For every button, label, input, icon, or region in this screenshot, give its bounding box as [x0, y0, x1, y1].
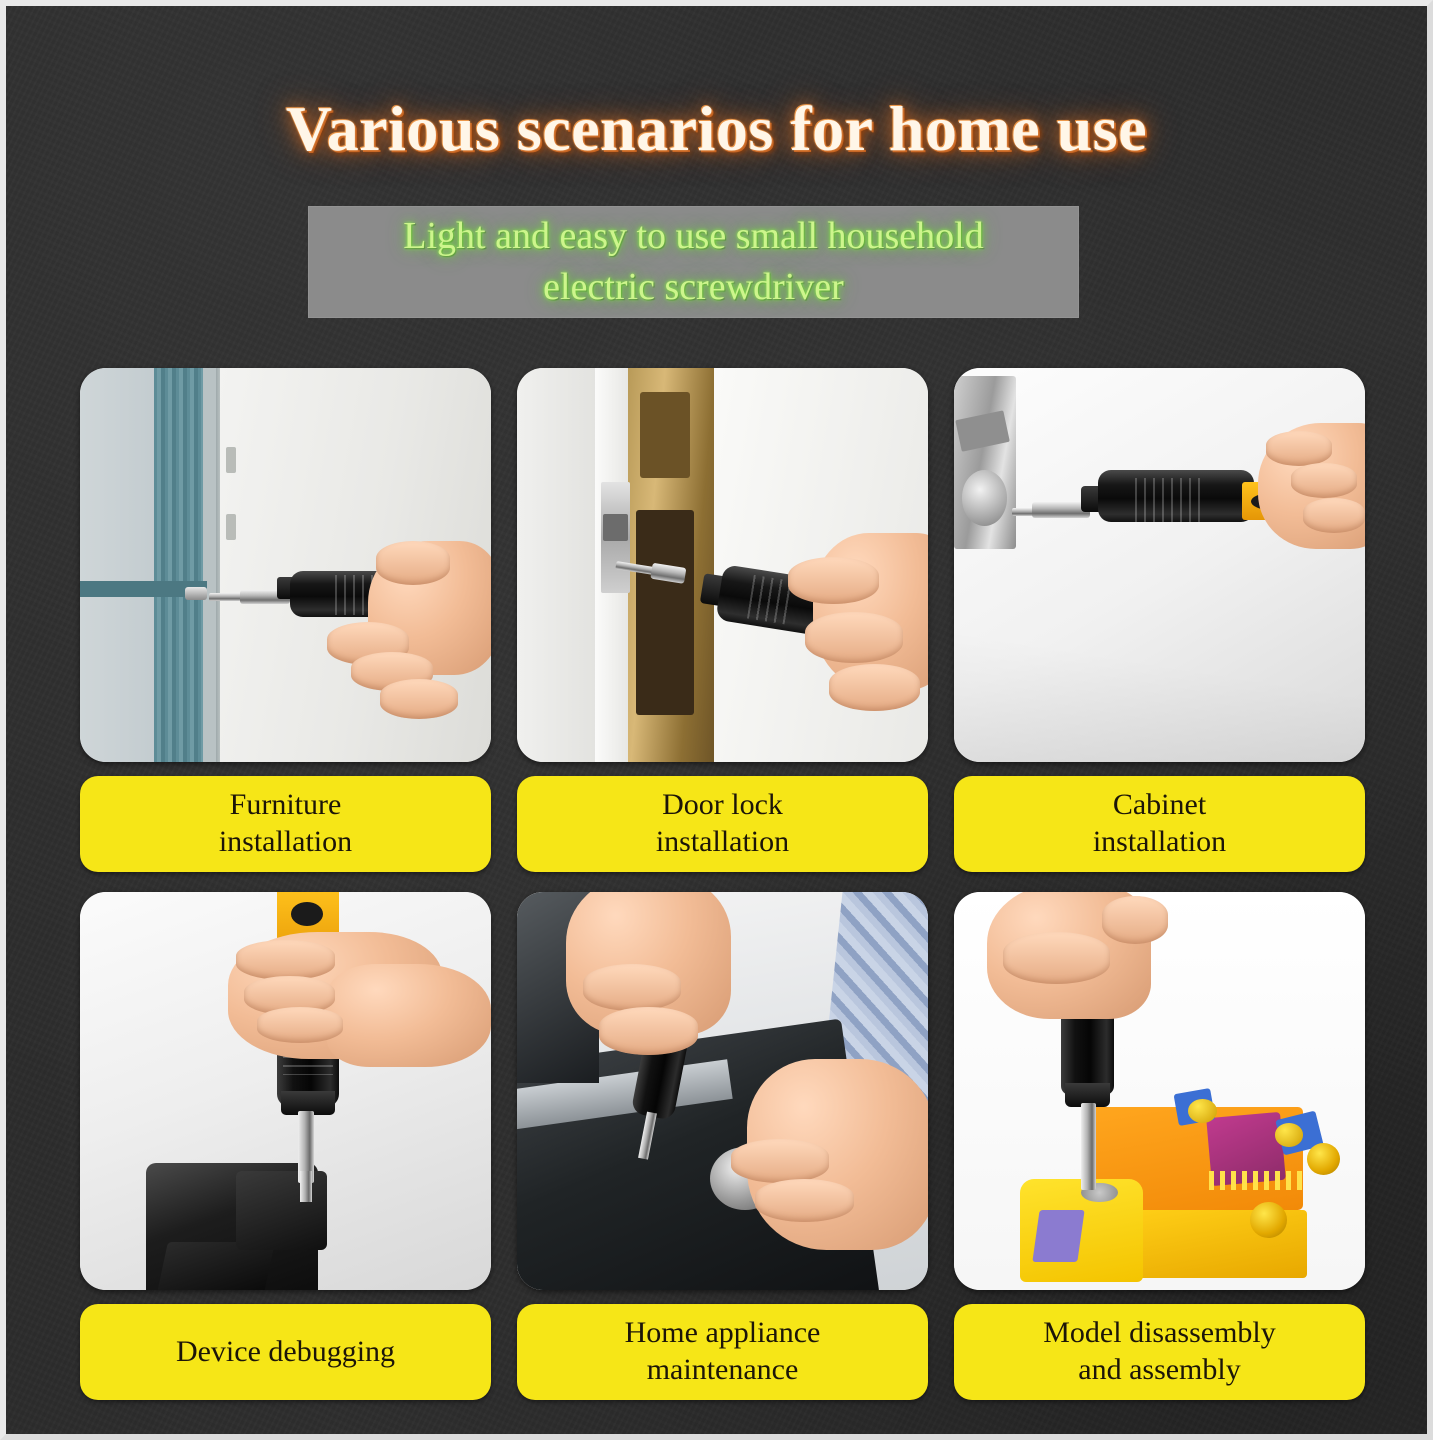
- caption-line-1: Home appliance: [625, 1315, 821, 1352]
- caption-line-1: Furniture: [230, 787, 342, 824]
- caption-line-2: maintenance: [647, 1352, 799, 1389]
- scenario-caption-device-debugging: Device debugging: [80, 1304, 491, 1400]
- caption-line-2: installation: [1093, 824, 1226, 861]
- caption-line-1: Door lock: [662, 787, 783, 824]
- scenario-caption-model-disassembly-and-assembly: Model disassembly and assembly: [954, 1304, 1365, 1400]
- scenario-image-door-lock-installation: [517, 368, 928, 762]
- scenario-card-door-lock-installation[interactable]: Door lock installation: [517, 368, 928, 872]
- scenario-card-device-debugging[interactable]: Device debugging: [80, 892, 491, 1400]
- subtitle-banner: Light and easy to use small household el…: [308, 206, 1079, 318]
- caption-line-1: Model disassembly: [1043, 1315, 1276, 1352]
- scenario-card-model-disassembly-and-assembly[interactable]: Model disassembly and assembly: [954, 892, 1365, 1400]
- caption-line-2: installation: [219, 824, 352, 861]
- scenario-image-furniture-installation: [80, 368, 491, 762]
- caption-line-1: Cabinet: [1113, 787, 1206, 824]
- scenario-card-furniture-installation[interactable]: Furniture installation: [80, 368, 491, 872]
- scenario-card-cabinet-installation[interactable]: Cabinet installation: [954, 368, 1365, 872]
- caption-line-1: Device debugging: [176, 1334, 395, 1371]
- scenario-card-home-appliance-maintenance[interactable]: Home appliance maintenance: [517, 892, 928, 1400]
- page-title: Various scenarios for home use: [6, 92, 1427, 166]
- scenario-image-cabinet-installation: [954, 368, 1365, 762]
- scenario-caption-home-appliance-maintenance: Home appliance maintenance: [517, 1304, 928, 1400]
- scenario-image-device-debugging: [80, 892, 491, 1290]
- subtitle-line-2: electric screwdriver: [543, 262, 844, 313]
- subtitle-line-1: Light and easy to use small household: [403, 211, 983, 262]
- scenario-image-home-appliance-maintenance: [517, 892, 928, 1290]
- scenario-grid: Furniture installation: [80, 368, 1365, 1400]
- scenario-caption-door-lock-installation: Door lock installation: [517, 776, 928, 872]
- caption-line-2: installation: [656, 824, 789, 861]
- promo-banner-page: Various scenarios for home use Light and…: [0, 0, 1433, 1440]
- scenario-image-model-disassembly-and-assembly: [954, 892, 1365, 1290]
- scenario-caption-cabinet-installation: Cabinet installation: [954, 776, 1365, 872]
- caption-line-2: and assembly: [1078, 1352, 1240, 1389]
- scenario-caption-furniture-installation: Furniture installation: [80, 776, 491, 872]
